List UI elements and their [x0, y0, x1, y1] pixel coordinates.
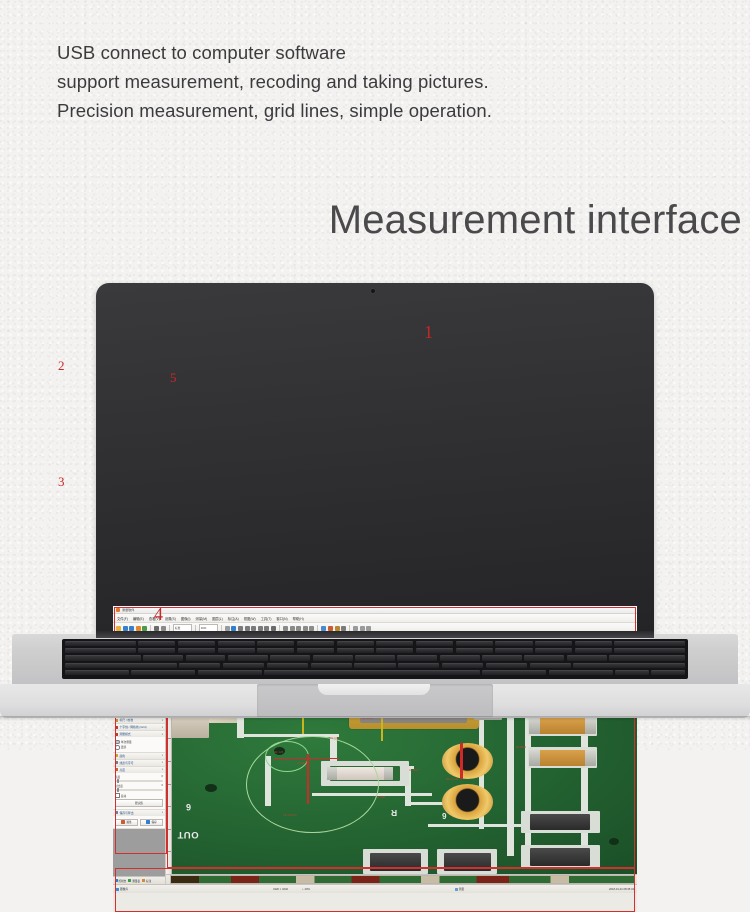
measure-icon: [115, 733, 118, 736]
reset-defaults-button[interactable]: 默认值: [115, 799, 163, 807]
ruler-tick: [166, 761, 171, 784]
record-icon[interactable]: [161, 626, 166, 631]
contrast-slider-value: 0: [162, 784, 163, 788]
app-icon: [116, 608, 120, 612]
save-as-icon[interactable]: [136, 626, 141, 631]
settings-icon[interactable]: [366, 626, 371, 631]
contrast-slider[interactable]: 对比度 0: [115, 784, 163, 791]
rect-icon[interactable]: [283, 626, 288, 631]
measure-label-8: D2: 2.1 mm: [446, 779, 458, 781]
key: [297, 641, 334, 646]
annotation-icon: [142, 879, 145, 882]
key: [416, 648, 453, 653]
headline-copy: USB connect to computer software support…: [57, 40, 677, 127]
key: [482, 670, 546, 675]
brightness-slider-row: 亮度 0: [115, 775, 163, 779]
key: [482, 655, 522, 660]
laptop-shadow: [0, 716, 750, 721]
key: [398, 663, 439, 668]
key: [535, 648, 572, 653]
key: [651, 670, 685, 675]
key: [495, 641, 532, 646]
menu-item-layer[interactable]: 图层(L): [212, 616, 223, 621]
measure-vline[interactable]: [307, 754, 309, 804]
radio-single-measure[interactable]: 单次测量: [115, 740, 163, 745]
keyboard-row: [65, 641, 685, 646]
group-grid-label: 十字线 / 网格线 (Grid): [120, 725, 147, 729]
panel-tabs[interactable]: 控制台 测量表 标注: [113, 876, 165, 884]
brightness-slider[interactable]: 亮度 0: [115, 775, 163, 782]
grid-icon: [115, 726, 118, 729]
group-linewidth: 线宽与字号 ▾: [113, 760, 165, 767]
key: [614, 641, 685, 646]
key: [178, 641, 215, 646]
key: [131, 670, 195, 675]
pcb-component: [530, 848, 590, 866]
key: [355, 655, 395, 660]
key: [270, 655, 310, 660]
ruler-tick: [166, 851, 171, 874]
group-color: 颜色 ▾: [113, 753, 165, 760]
panel-tab-measure-table[interactable]: 测量表: [128, 879, 140, 883]
brightness-slider-value: 0: [162, 775, 163, 779]
key: [486, 663, 527, 668]
properties-button[interactable]: 属性: [115, 819, 138, 827]
key: [179, 663, 220, 668]
group-brightness: 亮度 ▾ 亮度 0: [113, 767, 165, 810]
silkscreen-r: R: [391, 808, 397, 818]
group-linewidth-title[interactable]: 线宽与字号 ▾: [113, 760, 165, 766]
radio-single-label: 单次测量: [121, 740, 132, 744]
pcb-via-gold: [442, 784, 493, 820]
status-resolution: 4320 × 3240: [273, 888, 288, 891]
key: [573, 663, 685, 668]
panel-tab-console-label: 控制台: [119, 879, 127, 883]
panel-tab-console[interactable]: 控制台: [115, 879, 127, 883]
keyboard-row: [65, 648, 685, 653]
ellipse-icon[interactable]: [271, 626, 276, 631]
parallel-icon[interactable]: [303, 626, 308, 631]
key: [354, 663, 395, 668]
measure-label-9: L4: 5.86: [377, 797, 385, 799]
key: [143, 655, 183, 660]
laptop-notch: [318, 684, 430, 695]
silkscreen-6: 6: [186, 802, 191, 812]
group-linewidth-label: 线宽与字号: [120, 761, 134, 765]
key: [575, 641, 612, 646]
key: [65, 663, 177, 668]
key: [535, 641, 572, 646]
group-color-title[interactable]: 颜色 ▾: [113, 753, 165, 759]
group-brightness-label: 亮度: [120, 768, 126, 772]
print-icon[interactable]: [142, 626, 147, 631]
menu-item-window-view[interactable]: 视图(W): [244, 616, 256, 621]
ruler-tick: [166, 806, 171, 829]
measure-label-7: A1: 90.0°: [409, 770, 418, 772]
calibrate-icon[interactable]: [328, 626, 333, 631]
silkscreen-out: OUT: [177, 829, 199, 840]
group-grid-title[interactable]: 十字线 / 网格线 (Grid) ▾: [113, 724, 165, 730]
app-titlebar: 测量软件: [113, 606, 637, 614]
menu-bar[interactable]: 文件(F) 编辑(E) 查看(V) 设置(S) 图像(I) 测量(M) 图层(L…: [113, 614, 637, 623]
pcb-via: [205, 784, 217, 792]
contrast-slider-thumb[interactable]: [117, 788, 119, 792]
angle-icon[interactable]: [251, 626, 256, 631]
save-button[interactable]: 保存: [140, 819, 163, 827]
key: [257, 641, 294, 646]
silkscreen-6b: 6: [442, 811, 446, 820]
magnifier-icon: ⌕: [302, 888, 304, 891]
save-icon[interactable]: [129, 626, 134, 631]
properties-button-label: 属性: [127, 820, 132, 824]
key: [549, 670, 613, 675]
group-color-label: 颜色: [120, 754, 126, 758]
measure-label-6: L3: 33.40: [298, 763, 308, 765]
measure-circle-large[interactable]: [246, 736, 378, 833]
measure-via-line[interactable]: [460, 743, 462, 779]
key: [456, 648, 493, 653]
pcb-trace: [428, 824, 521, 827]
delete-icon[interactable]: [360, 626, 365, 631]
menu-item-edit[interactable]: 编辑(E): [133, 616, 144, 621]
radio-continuous-measure[interactable]: 连续: [115, 745, 163, 750]
menu-item-window[interactable]: 窗口(N): [276, 616, 287, 621]
laptop-keyboard: [62, 639, 688, 679]
menu-item-image[interactable]: 图像(I): [181, 616, 191, 621]
copy-line-1: USB connect to computer software: [57, 40, 677, 65]
properties-icon: [121, 820, 125, 824]
key: [65, 641, 136, 646]
menu-item-file[interactable]: 文件(F): [117, 616, 128, 621]
key: [186, 655, 226, 660]
key: [138, 641, 175, 646]
key: [313, 655, 353, 660]
capture-icon[interactable]: [154, 626, 159, 631]
pcb-terminal: [529, 750, 540, 766]
key: [376, 648, 413, 653]
key: [337, 641, 374, 646]
key: [495, 648, 532, 653]
key: [609, 655, 685, 660]
status-mode-label: 测量: [459, 887, 464, 891]
keyboard-row: [65, 670, 685, 675]
key: [614, 648, 685, 653]
status-zoom: ⌕ 40%: [302, 888, 310, 891]
ruler-tick: [166, 784, 171, 807]
key: [530, 663, 571, 668]
thumbnail-strip-bar[interactable]: [166, 874, 637, 884]
open-icon[interactable]: [123, 626, 128, 631]
key: [178, 648, 215, 653]
key: [257, 648, 294, 653]
key: [65, 655, 141, 660]
page-title: Measurement interface: [329, 196, 742, 244]
key: [567, 655, 607, 660]
checkbox-off-icon: [115, 793, 120, 798]
thumbnail-strip[interactable]: [170, 875, 635, 884]
laptop-lid: [96, 283, 654, 637]
key: [524, 655, 564, 660]
key: [218, 641, 255, 646]
spacebar: [264, 670, 479, 675]
measure-label-4: R1: 0.96: [330, 738, 339, 740]
key: [198, 670, 262, 675]
measure-label-11: D1: 89.60: [516, 747, 526, 749]
brightness-slider-track[interactable]: [115, 780, 163, 782]
pcb-via: [609, 838, 619, 845]
color-icon: [115, 754, 118, 757]
radio-on-icon: [115, 740, 120, 745]
key: [311, 663, 352, 668]
pcb-via-gold: [442, 743, 493, 779]
annotation-number-2: 2: [58, 359, 65, 372]
key: [440, 655, 480, 660]
line-icon: [115, 761, 118, 764]
console-icon: [115, 879, 118, 882]
bottom-tab-images[interactable]: 图像库: [116, 887, 128, 891]
group-measure-mode-label: 测量模式: [120, 732, 131, 736]
brightness-slider-thumb[interactable]: [117, 779, 119, 783]
new-icon[interactable]: [116, 626, 121, 631]
key: [228, 655, 268, 660]
copy-line-3: Precision measurement, grid lines, simpl…: [57, 98, 677, 123]
panel-tab-annotation-label: 标注: [146, 879, 151, 883]
key: [376, 641, 413, 646]
group-brightness-body: 亮度 0 对比度 0: [113, 773, 165, 809]
key: [138, 648, 175, 653]
measure-label-5: R2: 1.25: [274, 752, 283, 754]
text-icon[interactable]: [321, 626, 326, 631]
brightness-icon: [115, 768, 118, 771]
auto-checkbox[interactable]: 自动: [115, 793, 163, 798]
grid-icon[interactable]: [335, 626, 340, 631]
pcb-component: [370, 853, 421, 871]
distance-icon[interactable]: [309, 626, 314, 631]
bottom-tab-images-label: 图像库: [120, 887, 128, 891]
laptop-mockup: 测量软件 文件(F) 编辑(E) 查看(V) 设置(S) 图像(I) 测量(M)…: [0, 283, 750, 703]
point-icon[interactable]: [296, 626, 301, 631]
key: [416, 641, 453, 646]
key: [267, 663, 308, 668]
polyline-icon[interactable]: [245, 626, 250, 631]
laptop-hinge: [96, 631, 654, 638]
chevron-down-icon[interactable]: ▾: [162, 811, 163, 814]
menu-item-help[interactable]: 帮助(H): [293, 616, 304, 621]
status-bar: 图像库 4320 × 3240 ⌕ 40% 测量 2018-01-01 08:3…: [113, 884, 637, 893]
status-zoom-value: 40%: [305, 888, 310, 891]
radio-continuous-label: 连续: [121, 745, 126, 749]
key: [615, 670, 649, 675]
menu-item-measure[interactable]: 测量(M): [196, 616, 208, 621]
chevron-down-icon[interactable]: ▾: [162, 726, 163, 729]
key: [223, 663, 264, 668]
circle-icon[interactable]: [264, 626, 269, 631]
pcb-capacitor: [539, 750, 586, 766]
group-save-export: 保存与导出 ▾ 属性 保存: [113, 810, 165, 829]
panel-tab-measure-label: 测量表: [132, 879, 140, 883]
arc-icon[interactable]: [258, 626, 263, 631]
webcam-icon: [371, 289, 375, 293]
keyboard-row: [65, 655, 685, 660]
contrast-slider-row: 对比度 0: [115, 784, 163, 788]
table-icon: [128, 879, 131, 882]
panel-tab-annotation[interactable]: 标注: [142, 879, 151, 883]
save2-icon: [146, 820, 150, 824]
save-export-buttons: 属性 保存: [115, 819, 163, 827]
chevron-down-icon[interactable]: ▾: [162, 733, 163, 736]
crosshair-icon[interactable]: [341, 626, 346, 631]
ruler-tick: [166, 829, 171, 852]
group-grid: 十字线 / 网格线 (Grid) ▾: [113, 724, 165, 731]
key: [65, 670, 129, 675]
key: [397, 655, 437, 660]
pcb-terminal: [384, 767, 393, 781]
chevron-down-icon[interactable]: ▾: [162, 761, 163, 764]
ruler-icon[interactable]: [353, 626, 358, 631]
hand-icon[interactable]: [225, 626, 230, 631]
contrast-slider-track[interactable]: [115, 789, 163, 791]
group-save-export-body: 属性 保存: [113, 816, 165, 828]
select-icon[interactable]: [231, 626, 236, 631]
menu-item-settings[interactable]: 设置(S): [165, 616, 176, 621]
status-mode: 测量: [455, 887, 464, 891]
key: [575, 648, 612, 653]
save-button-label: 保存: [152, 820, 157, 824]
key: [442, 663, 483, 668]
measure-icon: [455, 888, 458, 891]
pcb-component: [530, 814, 590, 830]
measure-hline[interactable]: [274, 758, 339, 759]
group-save-export-label: 保存与导出: [120, 811, 134, 815]
radio-off-icon: [115, 745, 120, 750]
save-icon: [115, 811, 118, 814]
polygon-icon[interactable]: [290, 626, 295, 631]
key: [297, 648, 334, 653]
key: [218, 648, 255, 653]
menu-item-annotate[interactable]: 标注(A): [228, 616, 239, 621]
app-title: 测量软件: [122, 607, 134, 612]
menu-item-tools[interactable]: 工具(T): [261, 616, 272, 621]
annotation-number-3: 3: [58, 475, 65, 488]
key: [337, 648, 374, 653]
measure-label-10: L5: 1.07 mm: [284, 815, 297, 817]
chevron-down-icon[interactable]: ▾: [162, 768, 163, 771]
pcb-terminal: [585, 750, 596, 766]
keyboard-row: [65, 663, 685, 668]
line-icon[interactable]: [238, 626, 243, 631]
status-datetime: 2018-01-01 08:35:34: [609, 888, 634, 891]
panel-empty-space: [113, 829, 165, 876]
chevron-down-icon[interactable]: ▾: [162, 754, 163, 757]
pcb-component: [444, 853, 491, 871]
menu-item-view[interactable]: 查看(V): [149, 616, 160, 621]
key: [456, 641, 493, 646]
key: [65, 648, 136, 653]
copy-line-2: support measurement, recoding and taking…: [57, 69, 677, 94]
auto-checkbox-label: 自动: [121, 794, 126, 798]
images-icon: [116, 888, 119, 891]
